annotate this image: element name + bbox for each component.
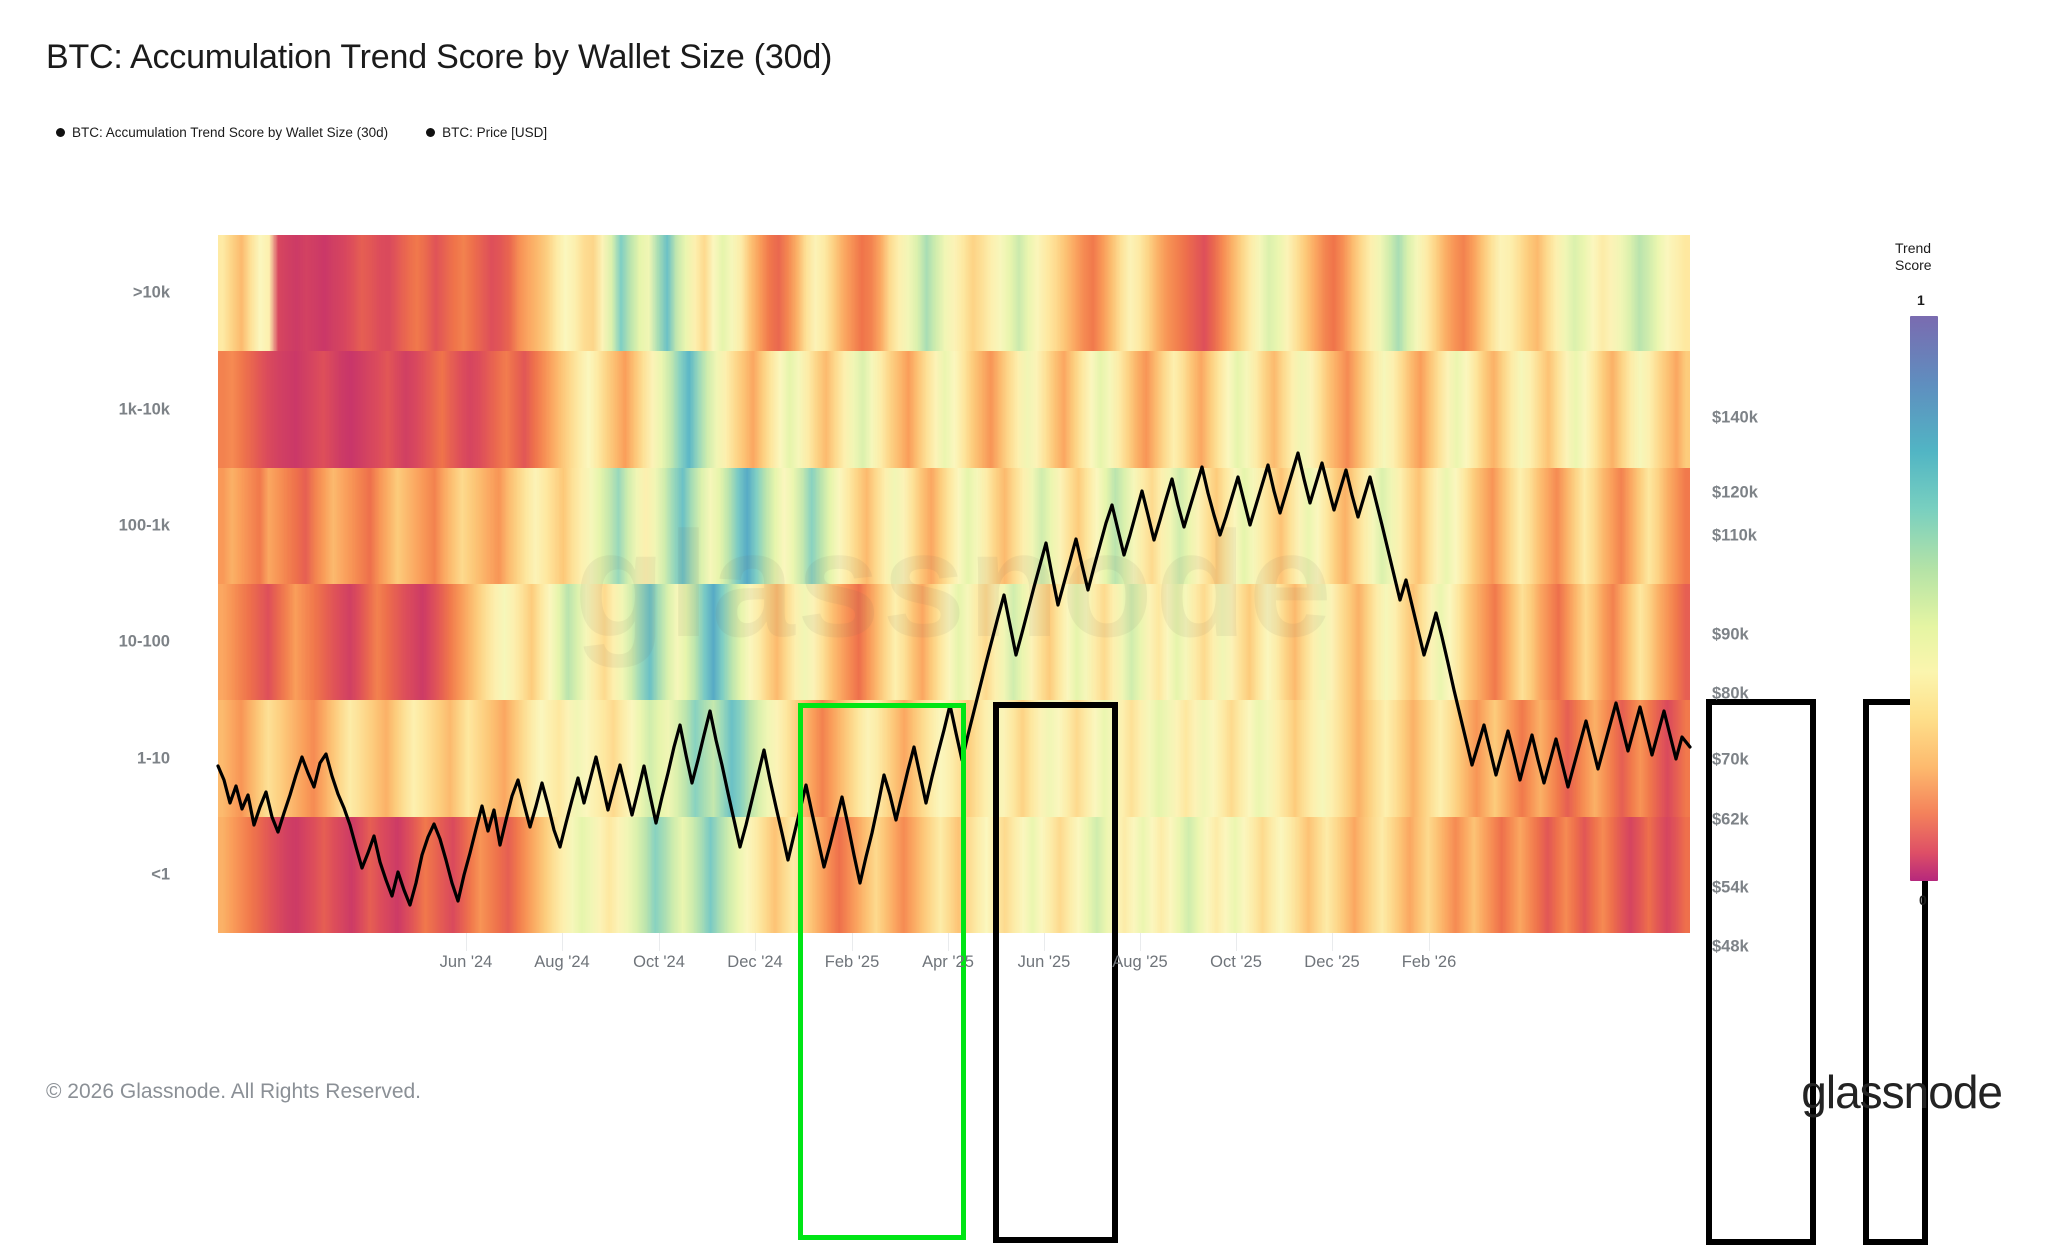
x-axis-tick: Jun '24 [440, 953, 493, 972]
chart-legend: BTC: Accumulation Trend Score by Wallet … [56, 125, 547, 140]
y-axis-right-tick: $80k [1712, 685, 1749, 704]
colorbar-max-label: 1 [1917, 292, 1925, 308]
x-axis-tick: Feb '26 [1402, 953, 1457, 972]
colorbar-gradient[interactable] [1910, 316, 1938, 881]
y-axis-right-tick: $48k [1712, 938, 1749, 957]
x-axis-tick: Aug '25 [1112, 953, 1167, 972]
x-axis-tick: Oct '24 [633, 953, 685, 972]
x-axis-gridline [562, 933, 563, 951]
x-axis-tick: Apr '25 [922, 953, 974, 972]
x-axis-gridline [948, 933, 949, 951]
legend-label: BTC: Price [USD] [442, 125, 547, 140]
x-axis-gridline [755, 933, 756, 951]
colorbar-legend[interactable]: Trend Score 1 0 [1895, 240, 2015, 960]
x-axis-gridline [1044, 933, 1045, 951]
y-axis-left-tick: 1k-10k [119, 400, 170, 419]
y-axis-right-tick: $140k [1712, 409, 1758, 428]
y-axis-left-tick: <1 [151, 865, 170, 884]
x-axis-gridline [1429, 933, 1430, 951]
x-axis-tick: Feb '25 [825, 953, 880, 972]
footer-logo: glassnode [1801, 1065, 2002, 1119]
x-axis-tick: Dec '25 [1304, 953, 1359, 972]
y-axis-wallet-size: >10k1k-10k100-1k10-1001-10<1 [0, 235, 206, 933]
x-axis-gridline [1140, 933, 1141, 951]
x-axis-tick: Jun '25 [1018, 953, 1071, 972]
footer-copyright: © 2026 Glassnode. All Rights Reserved. [46, 1080, 421, 1104]
legend-marker-icon [426, 128, 435, 137]
colorbar-title-line2: Score [1895, 257, 1932, 273]
x-axis-gridline [1332, 933, 1333, 951]
x-axis-tick: Aug '24 [534, 953, 589, 972]
x-axis-tick: Dec '24 [727, 953, 782, 972]
y-axis-right-tick: $70k [1712, 751, 1749, 770]
colorbar-title-line1: Trend [1895, 240, 1931, 256]
x-axis-gridline [1236, 933, 1237, 951]
y-axis-right-tick: $120k [1712, 484, 1758, 503]
y-axis-right-tick: $54k [1712, 879, 1749, 898]
colorbar-min-label: 0 [1919, 892, 1927, 908]
x-axis-dates: Jun '24Aug '24Oct '24Dec '24Feb '25Apr '… [218, 933, 1690, 993]
y-axis-right-tick: $110k [1712, 527, 1757, 546]
y-axis-left-tick: 10-100 [119, 633, 170, 652]
y-axis-right-tick: $62k [1712, 811, 1749, 830]
page-title: BTC: Accumulation Trend Score by Wallet … [46, 38, 832, 77]
legend-marker-icon [56, 128, 65, 137]
y-axis-left-tick: 1-10 [137, 749, 170, 768]
legend-item-price[interactable]: BTC: Price [USD] [426, 125, 547, 140]
y-axis-right-tick: $90k [1712, 626, 1749, 645]
colorbar-title: Trend Score [1895, 240, 1985, 274]
x-axis-tick: Oct '25 [1210, 953, 1262, 972]
x-axis-gridline [466, 933, 467, 951]
y-axis-left-tick: >10k [133, 284, 170, 303]
legend-item-trend-score[interactable]: BTC: Accumulation Trend Score by Wallet … [56, 125, 388, 140]
legend-label: BTC: Accumulation Trend Score by Wallet … [72, 125, 388, 140]
y-axis-left-tick: 100-1k [119, 516, 170, 535]
x-axis-gridline [852, 933, 853, 951]
x-axis-gridline [659, 933, 660, 951]
y-axis-price: $140k$120k$110k$90k$80k$70k$62k$54k$48k [1700, 235, 1880, 933]
